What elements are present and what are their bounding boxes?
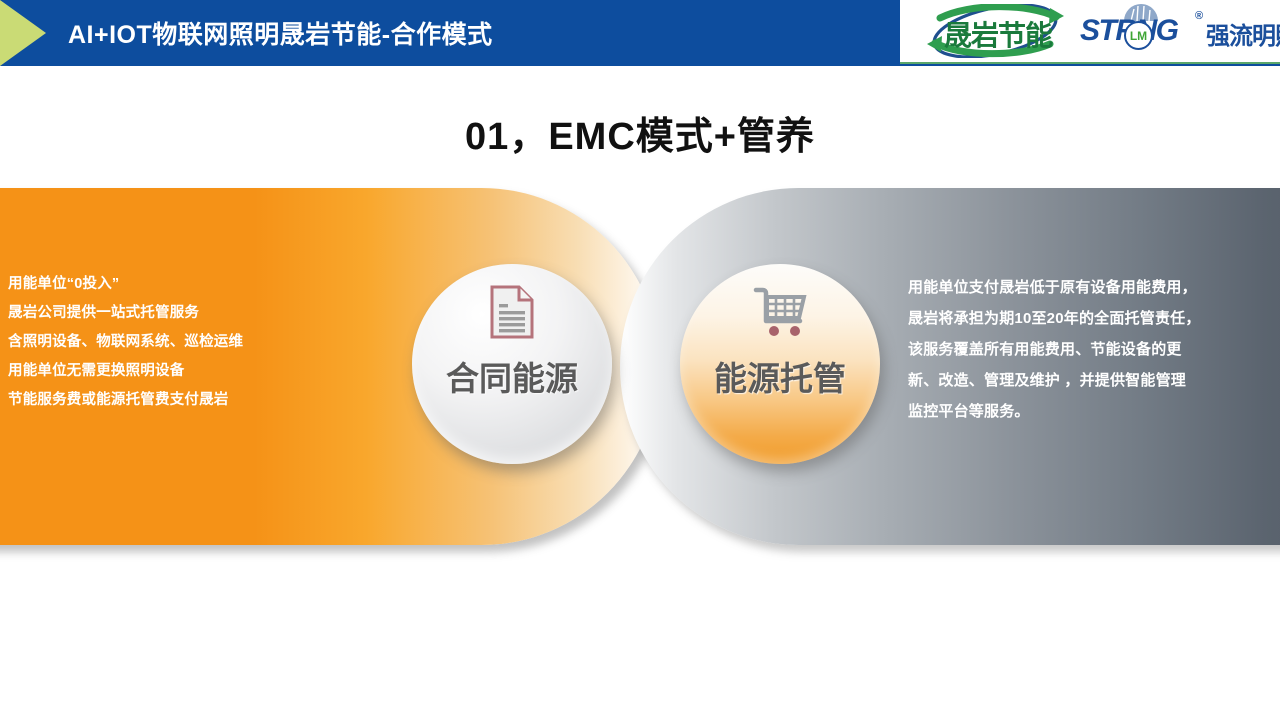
- orange-line: 含照明设备、物联网系统、巡检运维: [8, 328, 338, 357]
- gray-line: 该服务覆盖所有用能费用、节能设备的更: [908, 334, 1280, 365]
- orange-line: 用能单位无需更换照明设备: [8, 357, 338, 386]
- header-arrow-icon: [0, 0, 46, 66]
- gray-line: 用能单位支付晟岩低于原有设备用能费用，: [908, 272, 1280, 303]
- company-logo: 晟岩节能 STRNG LM ® 强流明照明: [900, 0, 1280, 64]
- orange-line: 用能单位“0投入”: [8, 270, 338, 299]
- circle-label-contract-energy: 合同能源: [446, 352, 578, 400]
- shengyan-logo: 晟岩节能: [910, 4, 1080, 58]
- gray-line: 晟岩将承担为期10至20年的全面托管责任，: [908, 303, 1280, 334]
- shengyan-logo-text: 晟岩节能: [918, 14, 1078, 54]
- registered-mark: ®: [1195, 10, 1203, 22]
- circle-label-energy-trusteeship: 能源托管: [714, 352, 846, 400]
- strong-o-badge: LM: [1124, 21, 1153, 50]
- header-title: AI+IOT物联网照明晟岩节能-合作模式: [68, 0, 493, 66]
- gray-line: 新、改造、管理及维护 ，并提供智能管理: [908, 365, 1280, 396]
- shopping-cart-icon: [751, 286, 809, 338]
- page-title: 01，EMC模式+管养: [0, 105, 1280, 160]
- orange-panel-text: 用能单位“0投入” 晟岩公司提供一站式托管服务 含照明设备、物联网系统、巡检运维…: [8, 270, 338, 415]
- circle-energy-trusteeship[interactable]: 能源托管: [680, 264, 880, 464]
- orange-line: 节能服务费或能源托管费支付晟岩: [8, 386, 338, 415]
- orange-line: 晟岩公司提供一站式托管服务: [8, 299, 338, 328]
- strong-logo: STRNG LM ® 强流明照明: [1080, 2, 1278, 60]
- gray-panel-text: 用能单位支付晟岩低于原有设备用能费用， 晟岩将承担为期10至20年的全面托管责任…: [908, 272, 1280, 427]
- circle-contract-energy[interactable]: 合同能源: [412, 264, 612, 464]
- strong-chinese-name: 强流明照明: [1206, 16, 1280, 51]
- gray-line: 监控平台等服务。: [908, 396, 1280, 427]
- document-icon: [489, 286, 535, 338]
